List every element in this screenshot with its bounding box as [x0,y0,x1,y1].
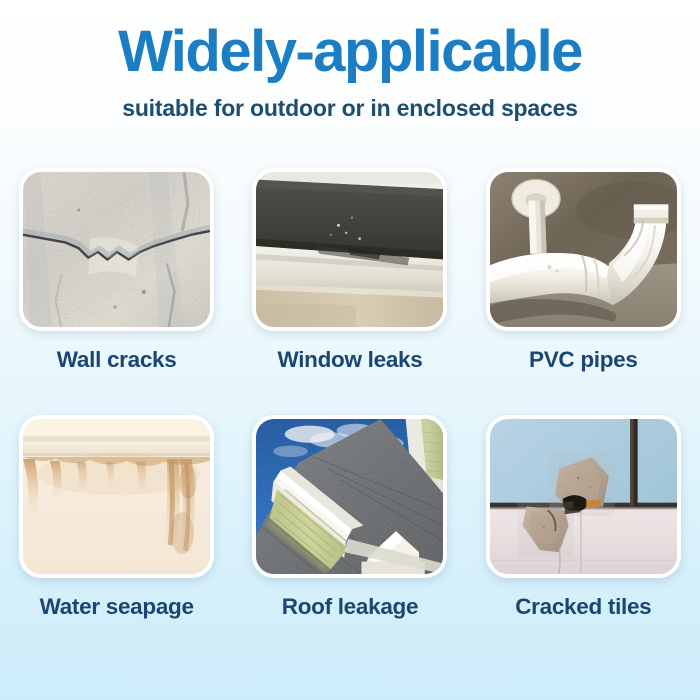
grid-item-pvc-pipes[interactable]: PVC pipes [472,168,694,373]
thumbnail-card[interactable] [252,168,447,331]
use-case-grid: Wall cracks [0,168,700,620]
house-roof-gable-photo [256,419,443,574]
grid-item-cracked-tiles[interactable]: Cracked tiles [472,415,694,620]
grid-item-label: Cracked tiles [515,594,651,620]
grid-item-roof-leakage[interactable]: Roof leakage [239,415,461,620]
page-subtitle: suitable for outdoor or in enclosed spac… [0,95,700,122]
grid-item-water-seapage[interactable]: Water seapage [6,415,228,620]
page-title: Widely-applicable [0,22,700,83]
thumbnail-card[interactable] [252,415,447,578]
grid-item-wall-cracks[interactable]: Wall cracks [6,168,228,373]
header: Widely-applicable suitable for outdoor o… [0,0,700,122]
broken-wall-tile-photo [490,419,677,574]
grid-item-label: PVC pipes [529,347,638,373]
window-sill-leak-photo [256,172,443,327]
water-stained-wall-photo [23,419,210,574]
grid-item-label: Roof leakage [282,594,418,620]
thumbnail-card[interactable] [486,415,681,578]
cracked-concrete-wall-photo [23,172,210,327]
grid-item-window-leaks[interactable]: Window leaks [239,168,461,373]
thumbnail-card[interactable] [19,415,214,578]
grid-item-label: Wall cracks [57,347,177,373]
grid-item-label: Water seapage [40,594,194,620]
thumbnail-card[interactable] [19,168,214,331]
promo-banner: Widely-applicable suitable for outdoor o… [0,0,700,700]
pvc-pipe-elbow-photo [490,172,677,327]
grid-item-label: Window leaks [277,347,422,373]
thumbnail-card[interactable] [486,168,681,331]
